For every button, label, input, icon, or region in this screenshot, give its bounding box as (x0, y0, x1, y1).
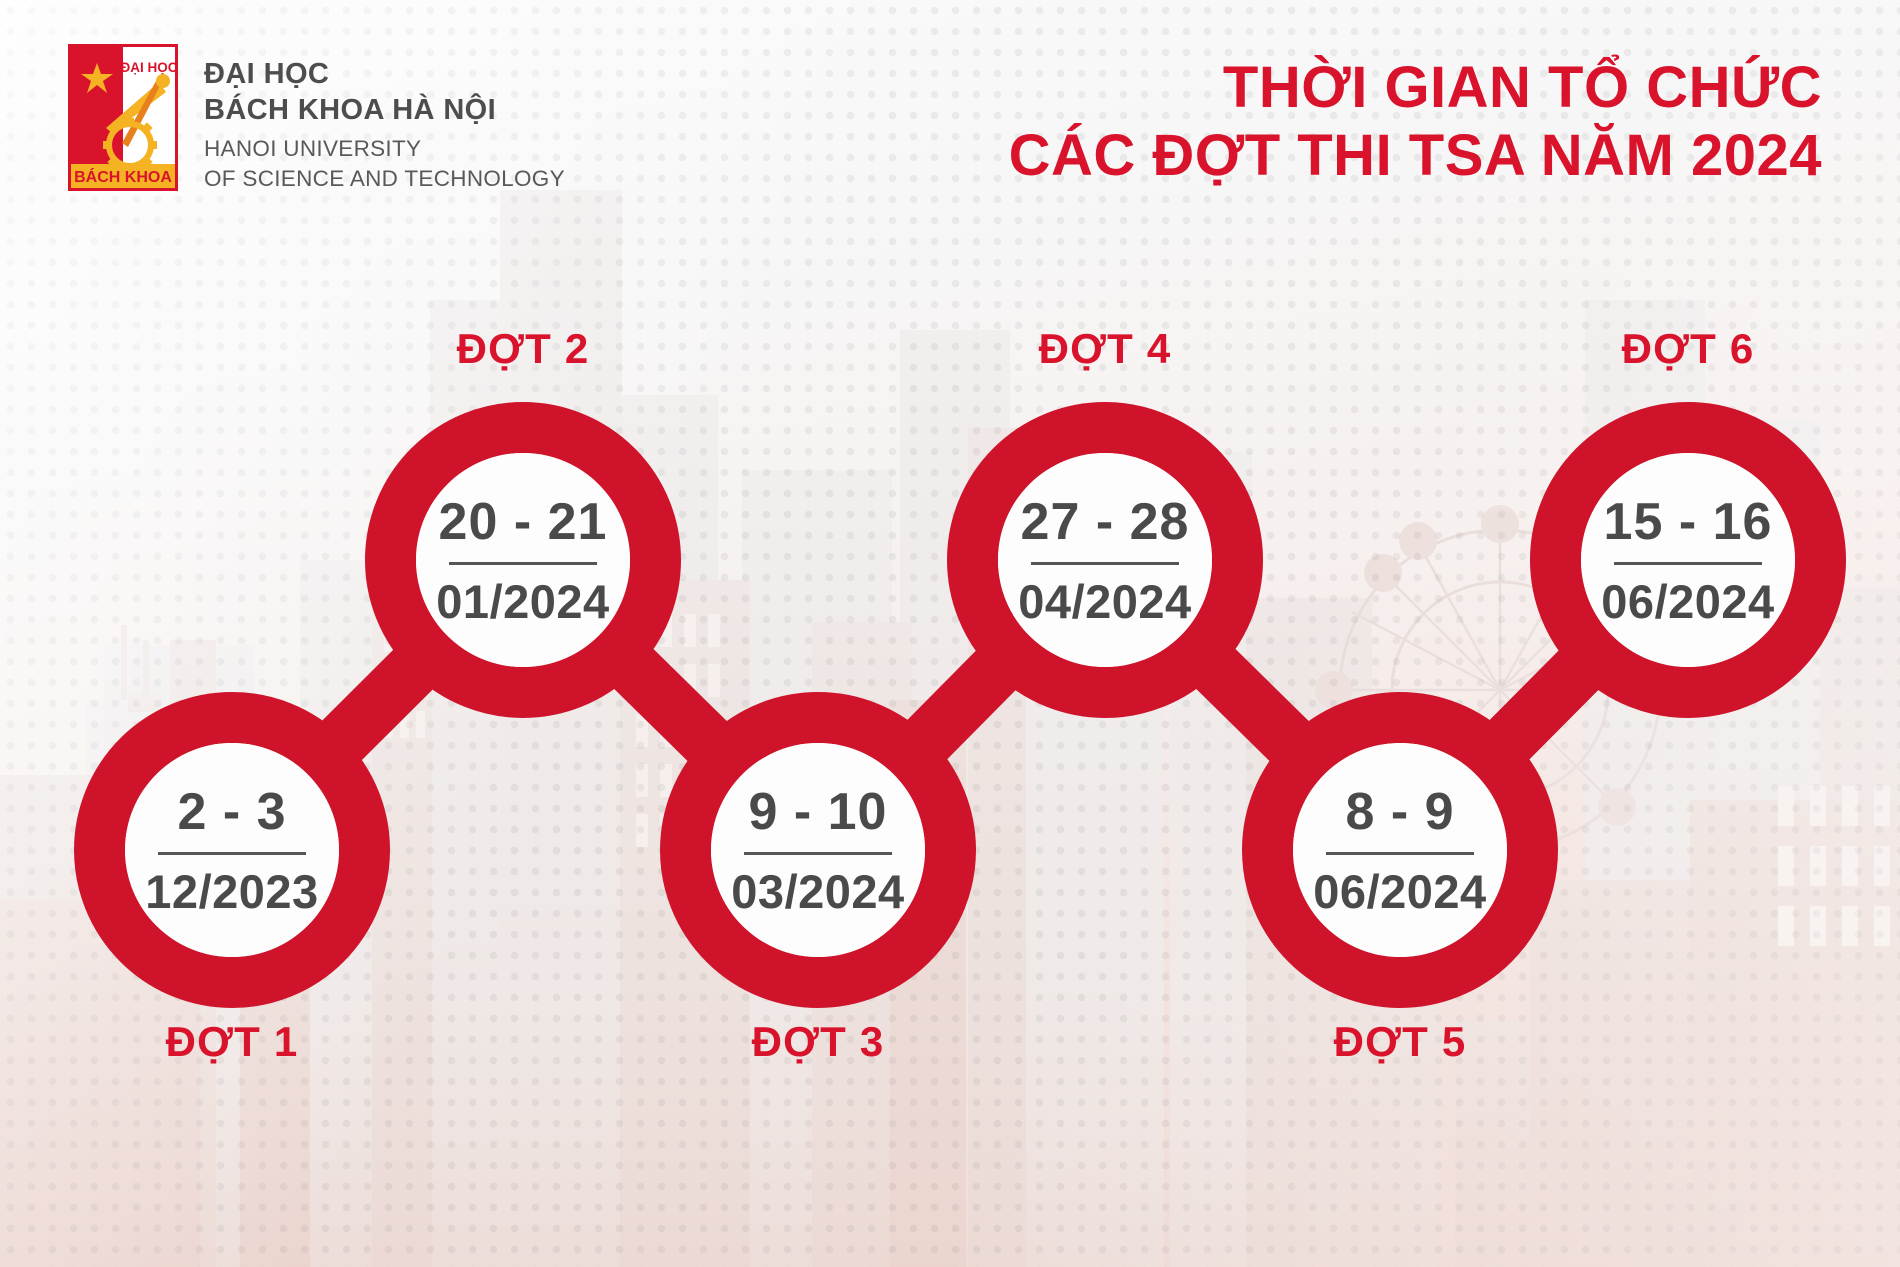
node-3-divider (744, 852, 892, 855)
node-4-month: 04/2024 (1018, 578, 1191, 625)
node-2-label: ĐỢT 2 (403, 325, 643, 373)
node-5-month: 06/2024 (1313, 868, 1486, 915)
infographic-poster: ĐẠI HỌC (0, 0, 1900, 1267)
node-2-divider (449, 562, 597, 565)
node-2-month: 01/2024 (436, 578, 609, 625)
node-6-divider (1614, 562, 1762, 565)
timeline-node-3[interactable]: 9 - 10 03/2024 (711, 743, 925, 957)
node-6-days: 15 - 16 (1604, 496, 1773, 548)
node-1-divider (158, 852, 306, 855)
timeline-node-5[interactable]: 8 - 9 06/2024 (1293, 743, 1507, 957)
node-3-label: ĐỢT 3 (698, 1018, 938, 1066)
node-4-label: ĐỢT 4 (985, 325, 1225, 373)
node-5-label: ĐỢT 5 (1280, 1018, 1520, 1066)
node-1-month: 12/2023 (145, 868, 318, 915)
timeline-node-6[interactable]: 15 - 16 06/2024 (1581, 453, 1795, 667)
node-6-label: ĐỢT 6 (1568, 325, 1808, 373)
node-1-days: 2 - 3 (177, 786, 286, 838)
exam-timeline: 2 - 3 12/2023 ĐỢT 1 20 - 21 01/2024 ĐỢT … (0, 0, 1900, 1267)
timeline-node-1[interactable]: 2 - 3 12/2023 (125, 743, 339, 957)
node-5-days: 8 - 9 (1345, 786, 1454, 838)
timeline-node-4[interactable]: 27 - 28 04/2024 (998, 453, 1212, 667)
node-1-label: ĐỢT 1 (112, 1018, 352, 1066)
node-5-divider (1326, 852, 1474, 855)
node-3-days: 9 - 10 (749, 786, 888, 838)
node-4-days: 27 - 28 (1021, 496, 1190, 548)
node-3-month: 03/2024 (731, 868, 904, 915)
node-2-days: 20 - 21 (439, 496, 608, 548)
node-6-month: 06/2024 (1601, 578, 1774, 625)
timeline-node-2[interactable]: 20 - 21 01/2024 (416, 453, 630, 667)
node-4-divider (1031, 562, 1179, 565)
